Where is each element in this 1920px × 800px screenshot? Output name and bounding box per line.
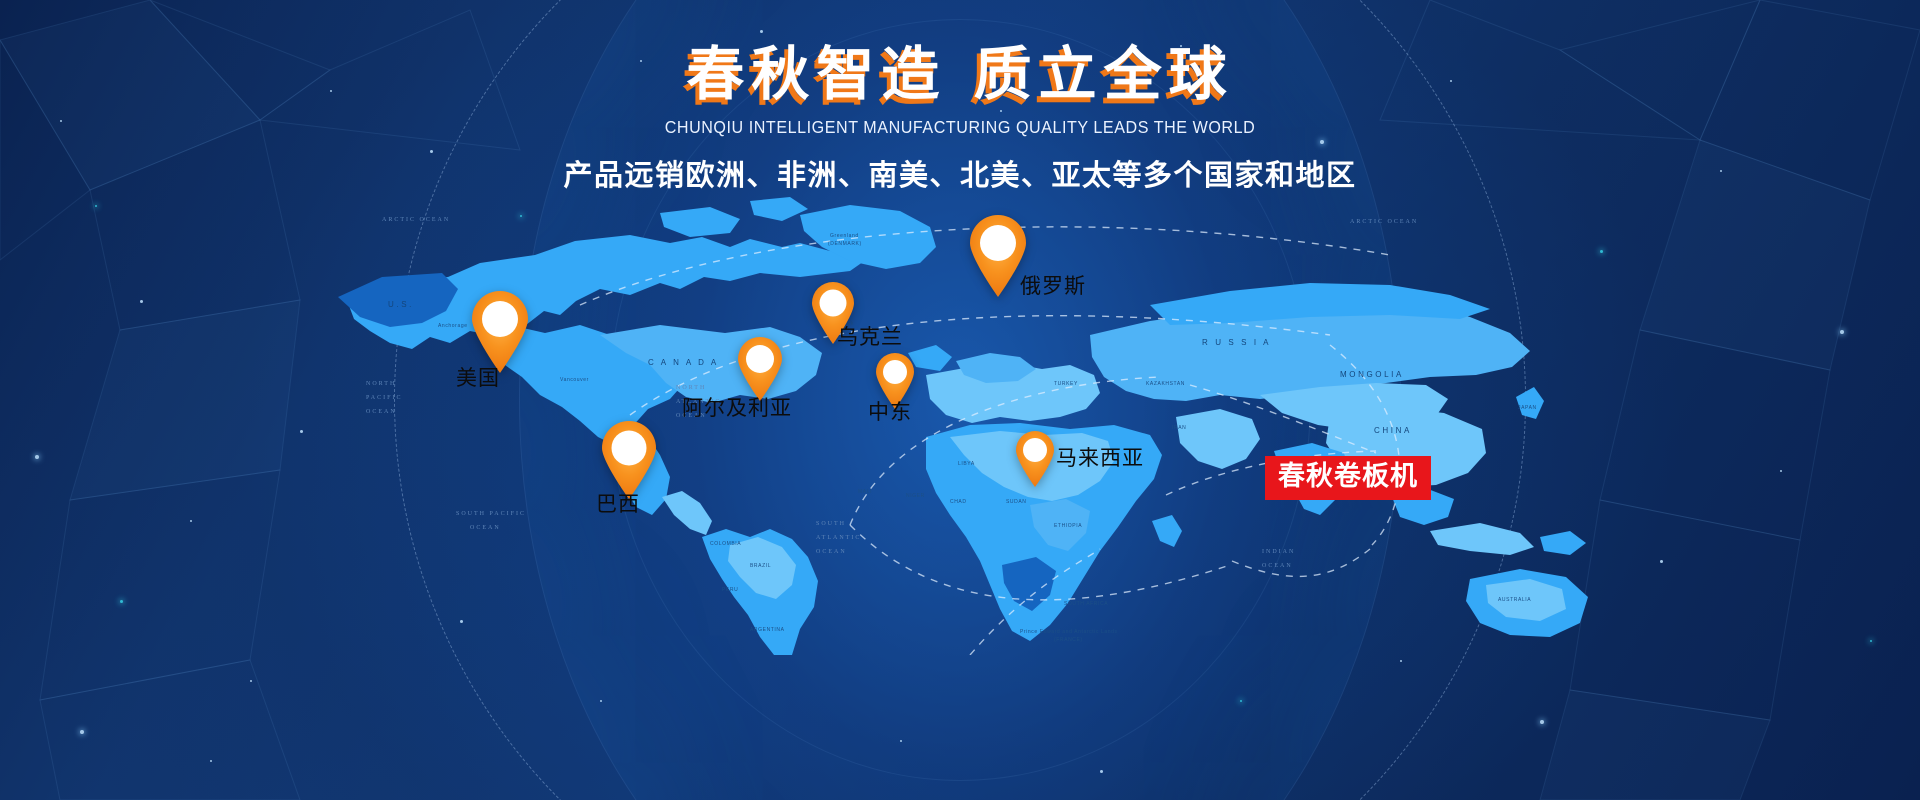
svg-text:TURKEY: TURKEY: [1054, 381, 1078, 387]
map-marker-label: 俄罗斯: [1020, 270, 1086, 300]
svg-text:Vancouver: Vancouver: [560, 377, 589, 383]
map-marker-brazil[interactable]: 巴西: [600, 420, 658, 500]
svg-text:NORTH: NORTH: [676, 385, 706, 391]
map-marker-usa[interactable]: 美国: [470, 290, 530, 374]
svg-text:KAZAKHSTAN: KAZAKHSTAN: [1146, 381, 1185, 387]
svg-text:PERU: PERU: [722, 587, 738, 593]
svg-text:COLOMBIA: COLOMBIA: [710, 541, 741, 547]
svg-text:R U S S I A: R U S S I A: [1202, 338, 1271, 347]
map-marker-ukraine[interactable]: 乌克兰: [810, 281, 856, 345]
svg-text:NORTH: NORTH: [366, 381, 396, 387]
svg-text:CHINA: CHINA: [1374, 426, 1412, 435]
page-title: 春秋智造 质立全球: [0, 44, 1920, 105]
svg-text:MONGOLIA: MONGOLIA: [1340, 370, 1404, 379]
svg-text:BRAZIL: BRAZIL: [750, 563, 771, 569]
map-marker-algeria[interactable]: 阿尔及利亚: [736, 336, 784, 402]
svg-text:ARCTIC OCEAN: ARCTIC OCEAN: [1350, 219, 1418, 225]
svg-text:SUDAN: SUDAN: [1006, 499, 1027, 505]
map-marker-mideast[interactable]: 中东: [874, 352, 916, 410]
map-marker-label: 中东: [868, 396, 912, 426]
svg-text:AUSTRALIA: AUSTRALIA: [1498, 597, 1531, 603]
svg-text:CHAD: CHAD: [950, 499, 967, 505]
svg-text:IRAN: IRAN: [1172, 425, 1186, 431]
svg-text:OCEAN: OCEAN: [1262, 563, 1293, 569]
svg-text:OCEAN: OCEAN: [366, 409, 397, 415]
location-pin-icon: [1014, 430, 1056, 488]
svg-text:Prince Edward and Antarctic La: Prince Edward and Antarctic Lands: [1020, 629, 1118, 635]
svg-text:Anchorage: Anchorage: [438, 323, 468, 329]
world-map: ARCTIC OCEAN ARCTIC OCEAN Greenland (DEN…: [330, 185, 1600, 655]
world-map-graphic: ARCTIC OCEAN ARCTIC OCEAN Greenland (DEN…: [330, 185, 1600, 655]
svg-text:PACIFIC: PACIFIC: [366, 395, 402, 401]
svg-text:U.S.: U.S.: [388, 300, 414, 309]
svg-text:MALI: MALI: [858, 489, 872, 495]
svg-text:Greenland: Greenland: [830, 233, 859, 239]
map-marker-label: 美国: [456, 362, 500, 392]
subtitle-chinese: 产品远销欧洲、非洲、南美、北美、亚太等多个国家和地区: [0, 152, 1920, 194]
svg-text:JAPAN: JAPAN: [1518, 405, 1537, 411]
map-marker-label: 阿尔及利亚: [682, 392, 792, 422]
svg-text:ATLANTIC: ATLANTIC: [816, 535, 861, 541]
location-pin-icon: [968, 214, 1028, 298]
product-badge[interactable]: 春秋卷板机: [1265, 456, 1431, 500]
svg-text:LIBYA: LIBYA: [958, 461, 975, 467]
svg-text:NIGER: NIGER: [906, 493, 925, 499]
svg-text:INDIAN: INDIAN: [1262, 549, 1295, 555]
svg-text:SOUTH PACIFIC: SOUTH PACIFIC: [456, 511, 526, 517]
svg-text:ETHIOPIA: ETHIOPIA: [1054, 523, 1082, 529]
svg-text:OCEAN: OCEAN: [816, 549, 847, 555]
svg-text:(FRANCE): (FRANCE): [1054, 637, 1083, 643]
svg-text:ARCTIC OCEAN: ARCTIC OCEAN: [382, 217, 450, 223]
map-marker-label: 巴西: [596, 488, 640, 518]
svg-text:C A N A D A: C A N A D A: [648, 358, 719, 367]
svg-text:(DENMARK): (DENMARK): [828, 241, 862, 247]
svg-text:OCEAN: OCEAN: [470, 525, 501, 531]
map-marker-label: 乌克兰: [837, 321, 903, 351]
svg-text:SOUTH AFRICA: SOUTH AFRICA: [1064, 601, 1108, 607]
subtitle-english: CHUNQIU INTELLIGENT MANUFACTURING QUALIT…: [77, 117, 1843, 138]
hero-banner: 春秋智造 质立全球 CHUNQIU INTELLIGENT MANUFACTUR…: [0, 0, 1920, 800]
hero-header: 春秋智造 质立全球 CHUNQIU INTELLIGENT MANUFACTUR…: [0, 44, 1920, 194]
map-marker-russia[interactable]: 俄罗斯: [968, 214, 1028, 298]
svg-text:SOUTH: SOUTH: [816, 521, 846, 527]
svg-text:ARGENTINA: ARGENTINA: [750, 627, 785, 633]
map-marker-malaysia[interactable]: 马来西亚: [1014, 430, 1056, 488]
map-marker-label: 马来西亚: [1056, 442, 1144, 472]
